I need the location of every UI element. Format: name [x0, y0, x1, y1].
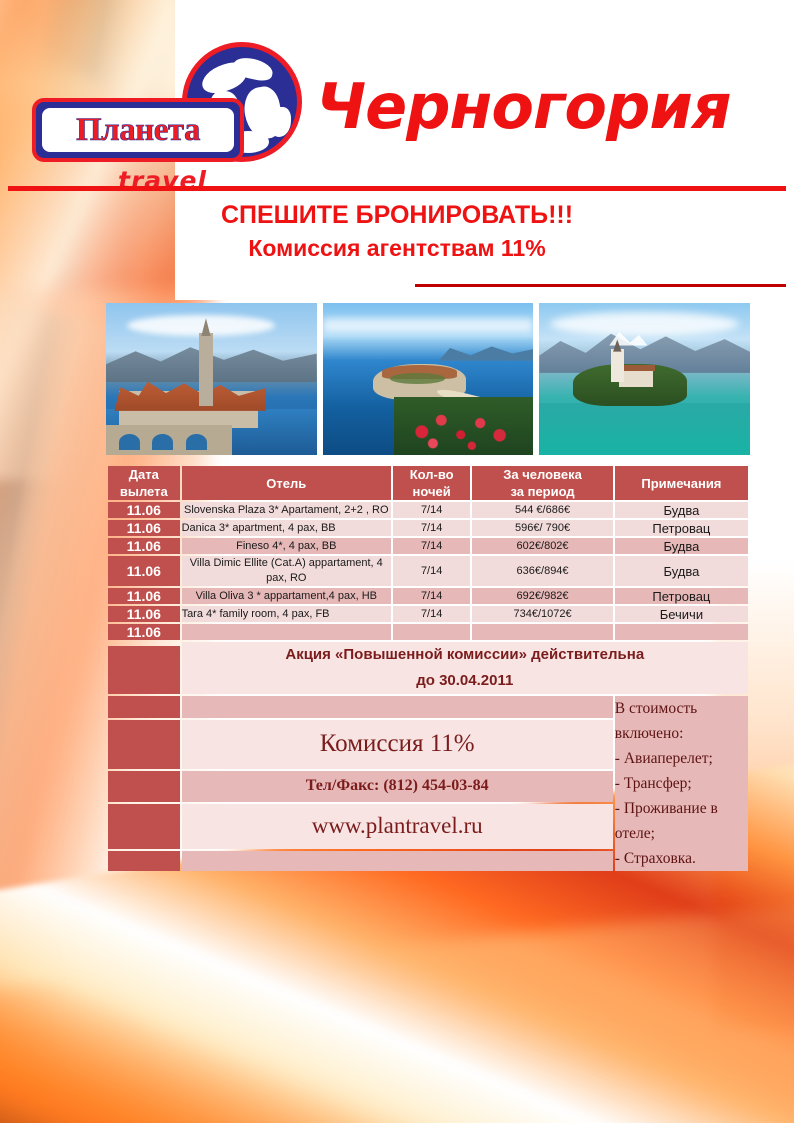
cell-nights: 7/14: [393, 520, 470, 536]
promo-banner-line1: Акция «Повышенной комиссии» действительн…: [182, 642, 748, 668]
cell-date-blank: [108, 771, 180, 802]
cell-price: 636€/894€: [472, 556, 613, 586]
cell-price: 734€/1072€: [472, 606, 613, 622]
cell-date: 11.06: [108, 556, 180, 586]
cell-date-blank: [108, 720, 180, 769]
footer-spacer-bottom: [182, 851, 613, 871]
cell-note: Петровац: [615, 588, 748, 604]
cell-date-blank: [108, 646, 180, 694]
cell-nights: [393, 624, 470, 640]
cell-nights: 7/14: [393, 556, 470, 586]
cell-date: 11.06: [108, 588, 180, 604]
header-divider: [8, 186, 786, 191]
cell-hotel: Tara 4* family room, 4 pax, FB: [182, 606, 391, 622]
website-link[interactable]: www.plantravel.ru: [182, 804, 613, 849]
footer-row: В стоимость включено: - Авиаперелет; - Т…: [108, 696, 748, 718]
table-row-empty: 11.06: [108, 624, 748, 640]
header-hotel: Отель: [182, 466, 391, 500]
cell-price: 544 €/686€: [472, 502, 613, 518]
header-date-line2: вылета: [108, 483, 180, 500]
header-nights-line2: ночей: [393, 483, 470, 500]
photo-lake-island-church: [539, 303, 750, 455]
header-nights-line1: Кол-во: [393, 466, 470, 483]
table-row: 11.06 Tara 4* family room, 4 pax, FB 7/1…: [108, 606, 748, 622]
header-nights: Кол-во ночей: [393, 466, 470, 500]
included-item: - Трансфер;: [615, 771, 748, 796]
cell-date: 11.06: [108, 538, 180, 554]
header-date-line1: Дата: [108, 466, 180, 483]
included-title: В стоимость включено:: [615, 696, 748, 746]
cell-date: 11.06: [108, 624, 180, 640]
table-header-row: Дата вылета Отель Кол-во ночей За челове…: [108, 466, 748, 500]
logo-name: Планета: [76, 112, 200, 149]
logo-plate: Планета: [32, 98, 244, 162]
cell-nights: 7/14: [393, 538, 470, 554]
header-notes: Примечания: [615, 466, 748, 500]
cell-note: Будва: [615, 502, 748, 518]
cell-hotel: Villa Dimic Ellite (Cat.A) appartament, …: [182, 556, 391, 586]
cell-hotel: [182, 624, 391, 640]
cell-price: 596€/ 790€: [472, 520, 613, 536]
included-item: - Проживание в отеле;: [615, 796, 748, 846]
cell-hotel: Villa Oliva 3 * appartament,4 pax, HB: [182, 588, 391, 604]
promo-heading: СПЕШИТЕ БРОНИРОВАТЬ!!! Комиссия агентств…: [0, 198, 794, 264]
cell-date: 11.06: [108, 502, 180, 518]
cell-nights: 7/14: [393, 606, 470, 622]
cell-price: 602€/802€: [472, 538, 613, 554]
photo-coastal-town: [106, 303, 317, 455]
commission-value: Комиссия 11%: [182, 720, 613, 769]
table-row: 11.06 Fineso 4*, 4 pax, BB 7/14 602€/802…: [108, 538, 748, 554]
offers-table: Дата вылета Отель Кол-во ночей За челове…: [106, 464, 750, 873]
table-row: 11.06 Slovenska Plaza 3* Apartament, 2+2…: [108, 502, 748, 518]
table-row: 11.06 Danica 3* apartment, 4 pax, BB 7/1…: [108, 520, 748, 536]
cell-hotel: Fineso 4*, 4 pax, BB: [182, 538, 391, 554]
flyer-page: Планета travel Черногория СПЕШИТЕ БРОНИР…: [0, 0, 794, 1123]
included-services: В стоимость включено: - Авиаперелет; - Т…: [615, 696, 748, 871]
cell-note: Будва: [615, 556, 748, 586]
cell-price: [472, 624, 613, 640]
cell-note: Петровац: [615, 520, 748, 536]
header-price-line2: за период: [472, 483, 613, 500]
footer-spacer-top: [182, 696, 613, 718]
cell-price: 692€/982€: [472, 588, 613, 604]
header-date: Дата вылета: [108, 466, 180, 500]
promo-banner-line2: до 30.04.2011: [182, 668, 748, 694]
page-title: Черногория: [316, 70, 731, 143]
company-logo[interactable]: Планета travel: [32, 40, 292, 190]
header-price-line1: За человека: [472, 466, 613, 483]
promo-line-2: Комиссия агентствам 11%: [0, 232, 794, 264]
photo-sveti-stefan: [323, 303, 534, 455]
cell-note: [615, 624, 748, 640]
cell-note: Бечичи: [615, 606, 748, 622]
included-item: - Авиаперелет;: [615, 746, 748, 771]
cell-hotel: Danica 3* apartment, 4 pax, BB: [182, 520, 391, 536]
cell-nights: 7/14: [393, 502, 470, 518]
cell-date: 11.06: [108, 520, 180, 536]
cell-note: Будва: [615, 538, 748, 554]
cell-date-blank: [108, 804, 180, 849]
header-price: За человека за период: [472, 466, 613, 500]
cell-date-blank: [108, 696, 180, 718]
cell-date-blank: [108, 851, 180, 871]
promo-banner: Акция «Повышенной комиссии» действительн…: [182, 642, 748, 694]
cell-hotel: Slovenska Plaza 3* Apartament, 2+2 , RO: [182, 502, 391, 518]
contact-phone[interactable]: Тел/Факс: (812) 454-03-84: [182, 771, 613, 802]
promo-line-1: СПЕШИТЕ БРОНИРОВАТЬ!!!: [0, 198, 794, 232]
table-row: 11.06 Villa Dimic Ellite (Cat.A) apparta…: [108, 556, 748, 586]
cell-date: 11.06: [108, 606, 180, 622]
promo-divider: [415, 284, 786, 287]
cell-nights: 7/14: [393, 588, 470, 604]
photo-strip: [106, 303, 750, 455]
included-item: - Страховка.: [615, 846, 748, 871]
table-row: 11.06 Villa Oliva 3 * appartament,4 pax,…: [108, 588, 748, 604]
